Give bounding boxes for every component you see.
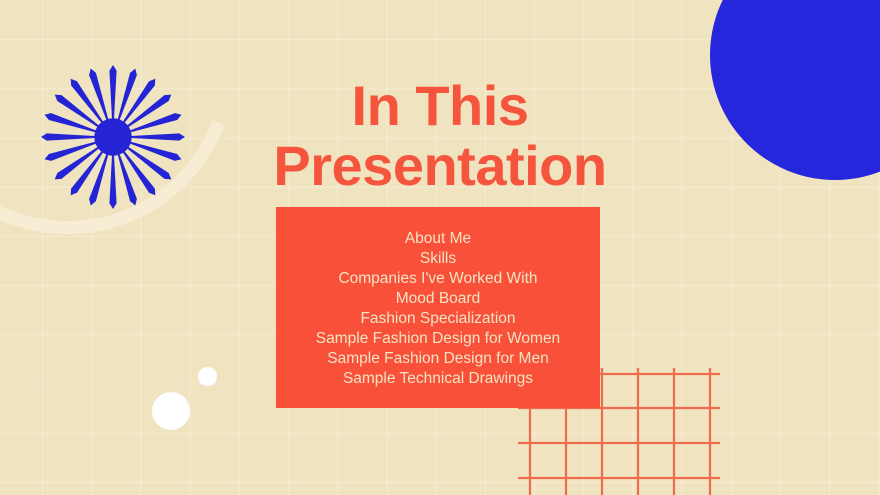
dot-icon [198,367,217,386]
page-title: In This Presentation [180,76,700,196]
list-item[interactable]: Sample Technical Drawings [236,369,640,389]
list-item[interactable]: About Me [236,229,640,249]
dot-icon [152,392,190,430]
list-item[interactable]: Skills [236,249,640,269]
title-line-2: Presentation [180,136,700,196]
list-item[interactable]: Companies I've Worked With [236,269,640,289]
contents-list: About Me Skills Companies I've Worked Wi… [236,229,640,389]
list-item[interactable]: Sample Fashion Design for Women [236,329,640,349]
list-item[interactable]: Mood Board [236,289,640,309]
list-item[interactable]: Fashion Specialization [236,309,640,329]
circle-icon [710,0,880,180]
presentation-slide: In This Presentation About Me Skills Com… [0,0,880,495]
list-item[interactable]: Sample Fashion Design for Men [236,349,640,369]
contents-panel: About Me Skills Companies I've Worked Wi… [276,207,600,408]
title-line-1: In This [180,76,700,136]
starburst-icon [41,65,185,209]
